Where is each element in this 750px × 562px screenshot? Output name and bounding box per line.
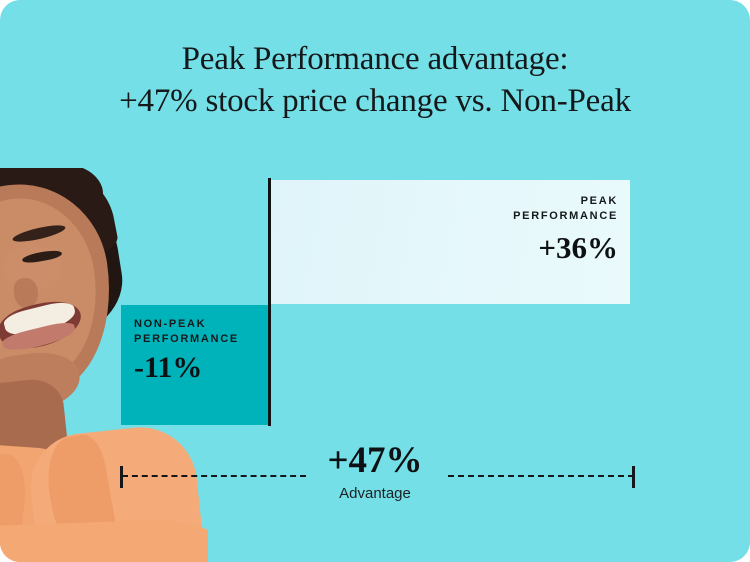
non-peak-label-line-2: PERFORMANCE	[134, 333, 239, 345]
non-peak-label-line-1: NON-PEAK	[134, 318, 206, 330]
non-peak-performance-value: -11%	[134, 349, 239, 387]
non-peak-performance-annotation: NON-PEAK PERFORMANCE -11%	[134, 317, 239, 387]
zero-baseline-axis	[268, 178, 271, 426]
bar-peak-performance: PEAK PERFORMANCE +36%	[271, 180, 630, 304]
infographic-card: Peak Performance advantage: +47% stock p…	[0, 0, 750, 562]
peak-label-line-2: PERFORMANCE	[513, 210, 618, 222]
bar-non-peak-performance: NON-PEAK PERFORMANCE -11%	[121, 305, 270, 425]
peak-performance-annotation: PEAK PERFORMANCE +36%	[513, 194, 618, 268]
non-peak-performance-label: NON-PEAK PERFORMANCE	[134, 317, 239, 347]
peak-performance-value: +36%	[513, 228, 618, 268]
peak-performance-label: PEAK PERFORMANCE	[513, 194, 618, 224]
bar-chart: PEAK PERFORMANCE +36% NON-PEAK PERFORMAN…	[0, 0, 750, 562]
peak-label-line-1: PEAK	[581, 195, 618, 207]
